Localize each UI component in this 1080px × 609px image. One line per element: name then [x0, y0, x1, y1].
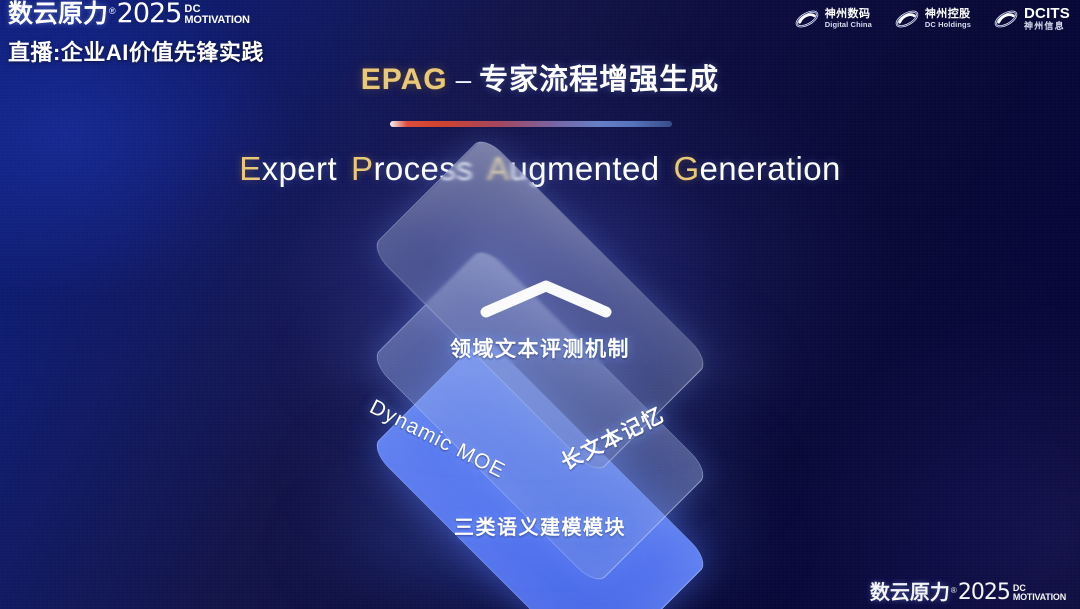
watermark-dc-line2: MOTIVATION: [1013, 593, 1066, 602]
watermark-dc-motivation: DC MOTIVATION: [1013, 584, 1066, 603]
partner-text: 神州数码 Digital China: [825, 9, 872, 28]
subtitle-word-expert: Expert: [239, 150, 337, 187]
chevron-up-icon: [478, 278, 614, 318]
subtitle-word-generation: Generation: [673, 150, 840, 187]
slide-canvas: 数云原力® 2025 DC MOTIVATION 直播:企业AI价值先锋实践 神…: [0, 0, 1080, 609]
partner-logos: 神州数码 Digital China 神州控股 DC Holdings: [794, 6, 1070, 32]
accent-rule: [390, 121, 672, 127]
subtitle-rest: xpert: [262, 150, 337, 187]
brand-dc-motivation: DC MOTIVATION: [184, 4, 249, 27]
partner-logo-dc-holdings: 神州控股 DC Holdings: [894, 6, 971, 32]
page-title: EPAG–专家流程增强生成: [0, 56, 1080, 98]
brand-name-cn: 数云原力: [8, 2, 108, 27]
partner-logo-digital-china: 神州数码 Digital China: [794, 6, 872, 32]
bottom-layer-label: 三类语义建模模块: [0, 511, 1080, 540]
subtitle-rest: rocess: [373, 150, 473, 187]
subtitle-word-process: Process: [351, 150, 473, 187]
middle-layer-label-left: Dynamic MOE: [366, 395, 509, 483]
middle-layer-label-right: 长文本记忆: [555, 399, 669, 477]
brand-dc-line2: MOTIVATION: [184, 15, 249, 26]
headline-title-cn: 专家流程增强生成: [479, 64, 719, 96]
partner-name-en: DC Holdings: [925, 21, 971, 29]
partner-name-cn-secondary: 神州信息: [1024, 22, 1070, 31]
headline-dash: –: [448, 64, 480, 95]
partner-name-en: Digital China: [825, 21, 872, 29]
headline-acronym: EPAG: [361, 63, 448, 96]
subtitle-capital: G: [673, 150, 699, 187]
subtitle-capital: A: [487, 150, 509, 187]
subtitle-capital: P: [351, 150, 373, 187]
swirl-icon: [894, 6, 920, 32]
brand-year: 2025: [117, 2, 182, 27]
partner-name-en-primary: DCITS: [1024, 6, 1070, 22]
bottom-layer-glow: [290, 470, 790, 609]
partner-text: DCITS 神州信息: [1024, 6, 1070, 31]
top-layer-glow: [290, 292, 790, 442]
swirl-icon: [794, 6, 820, 32]
subtitle-rest: eneration: [700, 150, 841, 187]
watermark-year: 2025: [958, 583, 1010, 603]
top-layer-label: 领域文本评测机制: [0, 333, 1080, 363]
subtitle-rest: ugmented: [509, 150, 659, 187]
partner-logo-dcits: DCITS 神州信息: [993, 6, 1070, 32]
swirl-icon: [993, 6, 1019, 32]
partner-text: 神州控股 DC Holdings: [925, 9, 971, 28]
brand-mark: 数云原力® 2025 DC MOTIVATION: [8, 2, 308, 27]
watermark-brand: 数云原力® 2025 DC MOTIVATION: [870, 583, 1066, 603]
brand-registered-mark: ®: [109, 7, 116, 16]
watermark-registered-mark: ®: [951, 586, 957, 595]
subtitle-acronym-expansion: ExpertProcessAugmentedGeneration: [0, 150, 1080, 188]
subtitle-capital: E: [239, 150, 261, 187]
watermark-name-cn: 数云原力: [870, 583, 950, 603]
middle-layer-glow: [290, 400, 790, 550]
bottom-layer-plate: [370, 335, 711, 609]
middle-layer-plate: [370, 246, 711, 587]
subtitle-word-augmented: Augmented: [487, 150, 659, 187]
